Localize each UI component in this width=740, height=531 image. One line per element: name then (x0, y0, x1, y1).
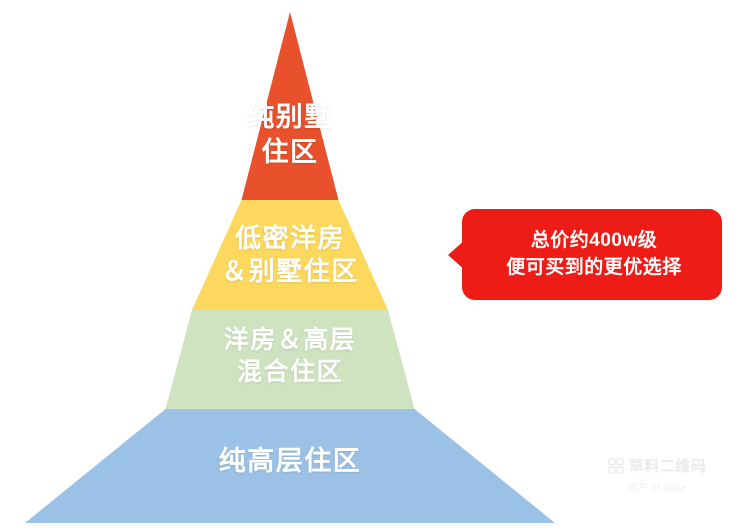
pyramid-tier-low-density (192, 200, 388, 310)
callout-bubble-shape (448, 209, 722, 300)
callout-bubble: 总价约400w级 便可买到的更优选择 (448, 209, 722, 300)
pyramid-tier-villa (242, 12, 339, 200)
pyramid-tier-highrise (25, 409, 555, 523)
callout-body (462, 209, 722, 300)
diagram-canvas: 纯别墅 住区 低密洋房 ＆别墅住区 洋房＆高层 混合住区 纯高层住区 总价约40… (0, 0, 740, 531)
pyramid-tier-mixed (166, 310, 415, 409)
